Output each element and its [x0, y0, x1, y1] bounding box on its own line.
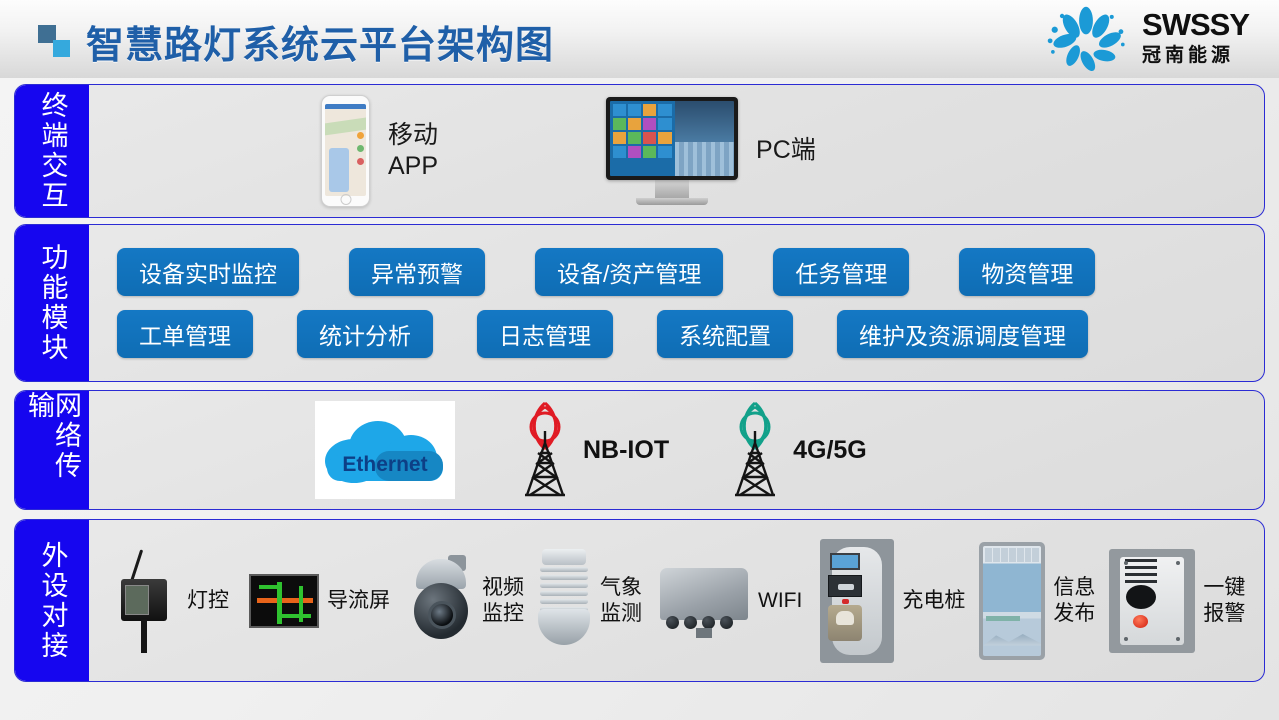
module-chip-work-order[interactable]: 工单管理 — [117, 310, 253, 358]
device-item-camera[interactable]: 视频 监控 — [408, 553, 524, 649]
device-item-info-display[interactable]: 信息 发布 — [979, 542, 1095, 660]
info-display-icon — [979, 542, 1045, 660]
network-item-nbiot[interactable]: NB-IOT — [507, 401, 669, 499]
device-item-lamp-controller[interactable]: 灯控 — [117, 549, 229, 653]
logo-text-en: SWSSY — [1142, 9, 1249, 40]
device-item-wifi[interactable]: WIFI — [658, 562, 802, 640]
layer-label-function: 功能模块 — [15, 225, 89, 381]
layer-label-terminal-text: 终端交互 — [39, 91, 66, 211]
module-chip-system-config[interactable]: 系统配置 — [657, 310, 793, 358]
device-label-weather-sensor: 气象 监测 — [600, 575, 642, 625]
terminal-item-mobile-app[interactable]: 移动 APP — [321, 95, 438, 207]
layer-network-panel: 网络传输 Ethernet — [14, 390, 1265, 510]
network-label-4g5g: 4G/5G — [793, 436, 867, 465]
layer-label-function-text: 功能模块 — [39, 243, 66, 363]
device-label-camera: 视频 监控 — [482, 575, 524, 625]
title-area: 智慧路灯系统云平台架构图 — [38, 14, 554, 69]
network-item-ethernet[interactable]: Ethernet — [315, 401, 455, 499]
device-label-charging-pile: 充电桩 — [902, 588, 965, 613]
device-item-alarm[interactable]: 一键 报警 — [1109, 549, 1245, 653]
module-chip-material-management[interactable]: 物资管理 — [959, 248, 1095, 296]
layer-function-panel: 功能模块 设备实时监控 异常预警 设备/资产管理 任务管理 物资管理 工单管理 … — [14, 224, 1265, 382]
mobile-phone-icon — [321, 95, 370, 207]
guide-screen-icon — [249, 574, 319, 628]
module-chip-device-monitor[interactable]: 设备实时监控 — [117, 248, 299, 296]
water-splash-logo-icon — [1040, 4, 1132, 74]
antenna-tower-icon — [717, 401, 793, 499]
lamp-controller-icon — [117, 549, 179, 653]
device-item-guide-screen[interactable]: 导流屏 — [249, 574, 390, 628]
ptz-camera-icon — [408, 553, 474, 649]
alarm-panel-icon — [1109, 549, 1195, 653]
company-logo: SWSSY 冠南能源 — [1040, 4, 1249, 74]
terminal-item-pc[interactable]: PC端 — [606, 97, 816, 205]
device-label-lamp-controller: 灯控 — [187, 588, 229, 613]
module-chip-maintenance-dispatch[interactable]: 维护及资源调度管理 — [837, 310, 1088, 358]
layer-label-terminal: 终端交互 — [15, 85, 89, 217]
desktop-monitor-icon — [606, 97, 738, 205]
weather-sensor-icon — [536, 547, 592, 655]
charging-pile-icon — [820, 539, 894, 663]
wifi-box-icon — [658, 562, 750, 640]
device-item-charging-pile[interactable]: 充电桩 — [820, 539, 965, 663]
device-item-weather-sensor[interactable]: 气象 监测 — [536, 547, 642, 655]
network-label-ethernet: Ethernet — [323, 453, 447, 477]
device-label-alarm: 一键 报警 — [1203, 575, 1245, 625]
layer-label-network-text: 网络传输 — [25, 391, 79, 509]
layer-terminal-panel: 终端交互 移动 APP — [14, 84, 1265, 218]
device-label-info-display: 信息 发布 — [1053, 575, 1095, 625]
module-row-2: 工单管理 统计分析 日志管理 系统配置 维护及资源调度管理 — [117, 310, 1242, 358]
layer-label-peripheral: 外设对接 — [15, 520, 89, 681]
module-chip-statistics[interactable]: 统计分析 — [297, 310, 433, 358]
device-label-guide-screen: 导流屏 — [327, 588, 390, 613]
layer-label-peripheral-text: 外设对接 — [39, 541, 66, 661]
antenna-tower-icon — [507, 401, 583, 499]
terminal-label-mobile-app: 移动 APP — [388, 120, 438, 183]
page-header: 智慧路灯系统云平台架构图 SWSSY 冠南能源 — [0, 0, 1279, 78]
module-chip-asset-management[interactable]: 设备/资产管理 — [535, 248, 723, 296]
network-item-4g5g[interactable]: 4G/5G — [717, 401, 867, 499]
module-chip-anomaly-alert[interactable]: 异常预警 — [349, 248, 485, 296]
layer-peripheral-panel: 外设对接 灯控 导流屏 视频 监控 — [14, 519, 1265, 682]
module-chip-log-management[interactable]: 日志管理 — [477, 310, 613, 358]
cloud-icon: Ethernet — [315, 401, 455, 499]
layer-label-network: 网络传输 — [15, 391, 89, 509]
module-chip-task-management[interactable]: 任务管理 — [773, 248, 909, 296]
logo-text-cn: 冠南能源 — [1142, 43, 1234, 70]
network-label-nbiot: NB-IOT — [583, 436, 669, 465]
bullet-squares-icon — [38, 25, 72, 59]
page-title: 智慧路灯系统云平台架构图 — [86, 14, 554, 69]
device-label-wifi: WIFI — [758, 588, 802, 613]
module-row-1: 设备实时监控 异常预警 设备/资产管理 任务管理 物资管理 — [117, 248, 1242, 296]
terminal-label-pc: PC端 — [756, 135, 816, 166]
